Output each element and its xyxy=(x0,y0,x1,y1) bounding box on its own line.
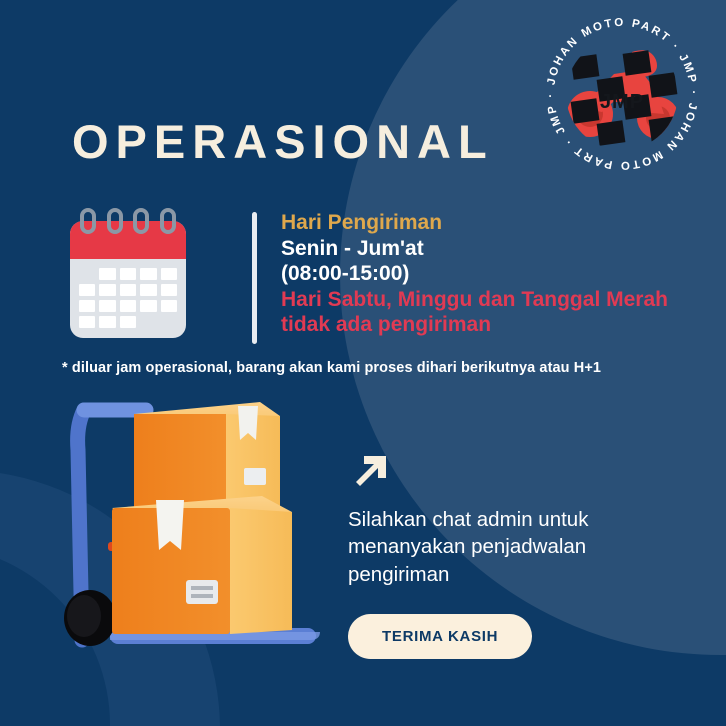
cta-block: Silahkan chat admin untuk menanyakan pen… xyxy=(348,452,648,659)
schedule-text: Hari Pengiriman Senin - Jum'at (08:00-15… xyxy=(281,210,668,338)
vertical-divider xyxy=(252,212,257,344)
cta-line-2: menanyakan penjadwalan xyxy=(348,533,648,560)
page-title: OPERASIONAL xyxy=(72,118,494,165)
cta-line-1: Silahkan chat admin untuk xyxy=(348,506,648,533)
schedule-heading: Hari Pengiriman xyxy=(281,210,668,236)
terima-kasih-button[interactable]: TERIMA KASIH xyxy=(348,614,532,659)
logo-center-text: JMP xyxy=(600,91,644,113)
schedule-hours: (08:00-15:00) xyxy=(281,261,668,287)
cta-message: Silahkan chat admin untuk menanyakan pen… xyxy=(348,506,648,588)
calendar-body xyxy=(70,221,186,338)
schedule-closed-line-2: tidak ada pengiriman xyxy=(281,312,668,338)
hand-truck-wheel xyxy=(64,590,116,646)
upper-box xyxy=(134,402,280,510)
schedule-block: Hari Pengiriman Senin - Jum'at (08:00-15… xyxy=(66,196,668,344)
brand-logo: JMP JOHAN MOTO PART · JMP · JOHAN MOTO P… xyxy=(536,8,708,180)
calendar-grid xyxy=(70,259,186,328)
calendar-icon xyxy=(66,208,190,340)
cta-line-3: pengiriman xyxy=(348,561,648,588)
calendar-rings xyxy=(80,208,176,234)
arrow-up-right-icon xyxy=(348,452,390,494)
operational-hours-poster: JMP JOHAN MOTO PART · JMP · JOHAN MOTO P… xyxy=(0,0,726,726)
schedule-closed-line-1: Hari Sabtu, Minggu dan Tanggal Merah xyxy=(281,287,668,313)
hand-truck-illustration xyxy=(48,392,348,682)
lower-box xyxy=(112,496,292,634)
operational-note: * diluar jam operasional, barang akan ka… xyxy=(62,360,601,376)
schedule-days: Senin - Jum'at xyxy=(281,236,668,262)
